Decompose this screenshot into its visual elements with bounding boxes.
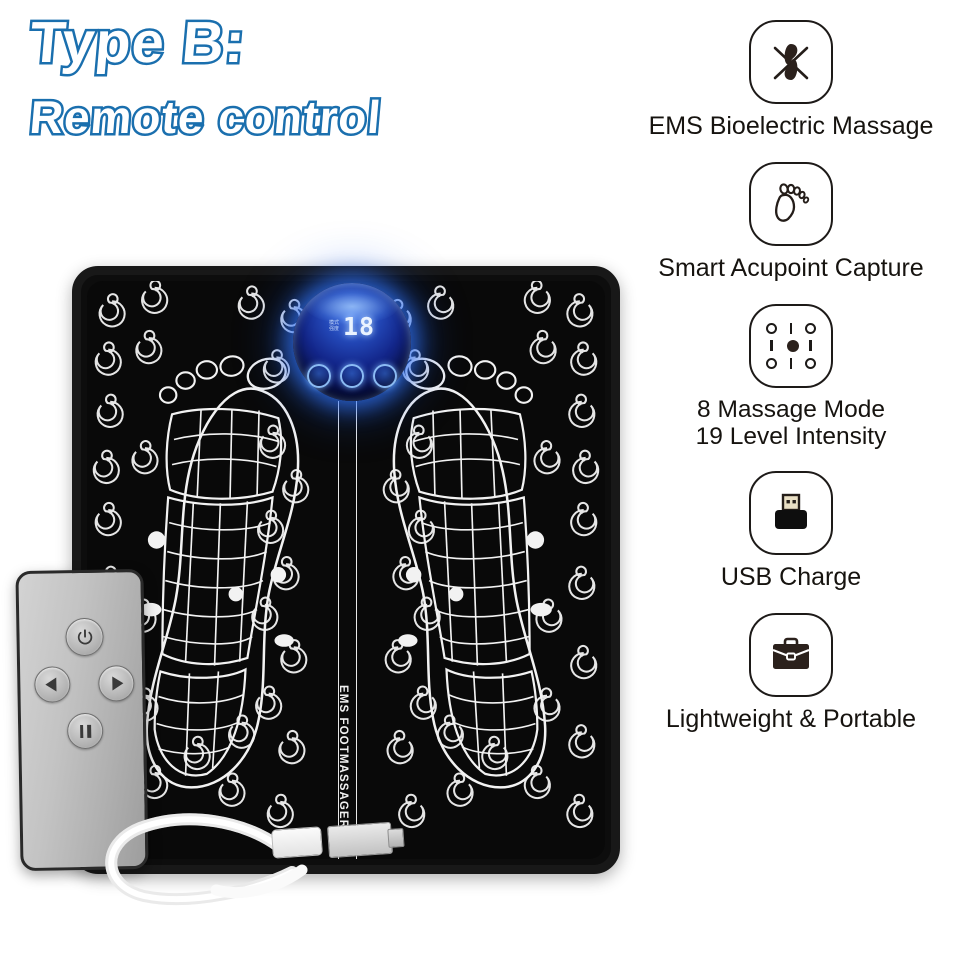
remote-power-button[interactable] [65, 618, 104, 657]
headline-subtitle: Remote control [28, 94, 612, 140]
briefcase-icon [749, 613, 833, 697]
mode-dot-grid [766, 323, 816, 369]
product-infographic: Type B: Remote control [0, 0, 960, 960]
remote-pause-button[interactable] [67, 713, 104, 750]
massage-mode-grid-icon [749, 304, 833, 388]
feature-label-modes-line2: 19 Level Intensity [696, 424, 887, 450]
feature-item-modes: 8 Massage Mode 19 Level Intensity [622, 304, 960, 451]
feature-label-modes-line1: 8 Massage Mode [697, 397, 885, 423]
ems-bioelectric-icon [749, 20, 833, 104]
hub-button-2[interactable] [340, 364, 364, 388]
feature-item-ems: EMS Bioelectric Massage [622, 20, 960, 140]
headline-type-label: Type B: [27, 14, 612, 72]
usb-plug-icon [767, 489, 815, 537]
hub-button-row [293, 364, 411, 388]
power-icon [75, 627, 94, 646]
footprint-icon [749, 162, 833, 246]
triangle-right-icon [112, 676, 123, 690]
display-value: 18 [343, 312, 375, 341]
usb-connector-icon [749, 471, 833, 555]
feature-label-usb: USB Charge [721, 564, 861, 591]
display-mode-label: 模式 [329, 321, 339, 326]
remote-next-button[interactable] [98, 665, 135, 702]
feature-item-usb: USB Charge [622, 471, 960, 591]
pause-icon [80, 724, 91, 737]
headline-block: Type B: Remote control [30, 14, 610, 140]
feature-list: EMS Bioelectric Massage Smart Acupoint C… [622, 20, 960, 733]
remote-previous-button[interactable] [34, 666, 71, 703]
feature-label-portable: Lightweight & Portable [666, 706, 916, 733]
feature-item-portable: Lightweight & Portable [622, 613, 960, 733]
foot-sole-icon [766, 179, 816, 229]
display-intensity-label: 强度 [329, 327, 339, 332]
display-unit-labels: 模式 强度 [329, 321, 339, 332]
led-display: 模式 强度 18 [293, 309, 411, 343]
feature-label-ems: EMS Bioelectric Massage [649, 113, 934, 140]
triangle-left-icon [45, 677, 56, 691]
hub-button-1[interactable] [307, 364, 331, 388]
feature-label-acupoint: Smart Acupoint Capture [658, 255, 923, 282]
usb-micro-connector [271, 826, 323, 858]
hub-button-3[interactable] [373, 364, 397, 388]
usb-charging-cable [96, 786, 396, 914]
control-hub[interactable]: 模式 强度 18 [293, 283, 411, 401]
crossed-needles-muscle-icon [765, 36, 817, 88]
suitcase-icon [766, 630, 816, 680]
usb-a-connector [327, 822, 393, 858]
feature-item-acupoint: Smart Acupoint Capture [622, 162, 960, 282]
